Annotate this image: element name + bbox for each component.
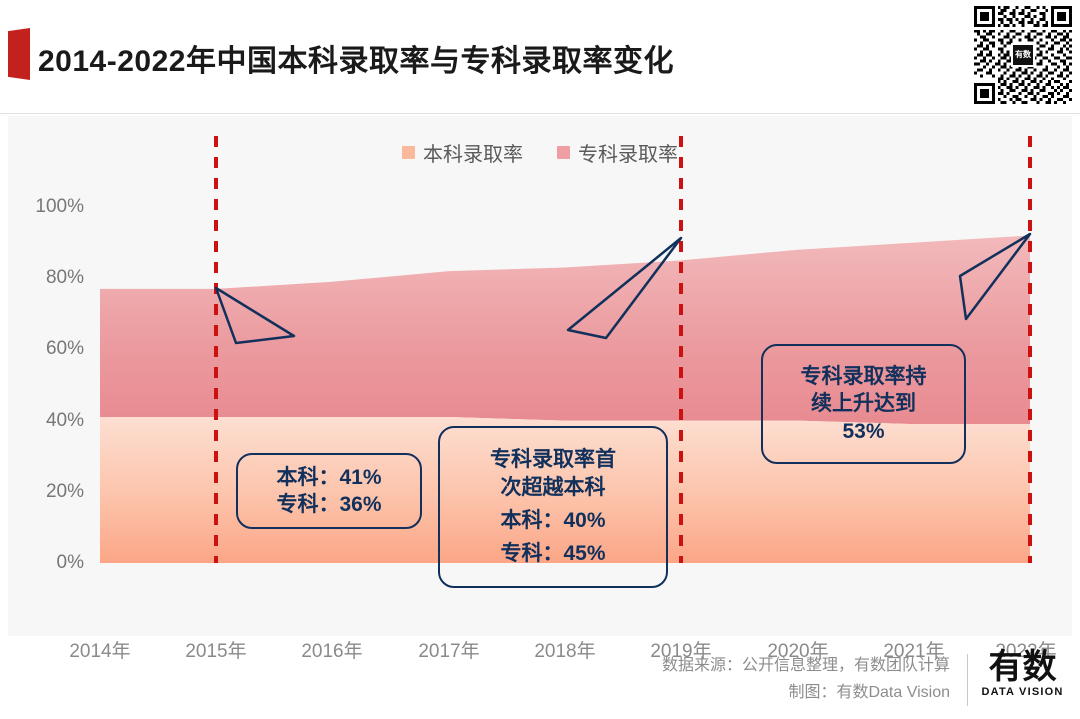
legend-item-zhuanke[interactable]: 专科录取率 xyxy=(557,138,678,167)
callout-2019-line-1: 专科录取率首 xyxy=(490,446,616,473)
legend-swatch-zhuanke xyxy=(557,146,570,159)
legend-label-benke: 本科录取率 xyxy=(423,138,523,167)
qr-center-logo-text: 有数 xyxy=(1015,51,1031,59)
source-line-2: 制图：有数Data Vision xyxy=(662,679,950,706)
brand-logo-en: DATA VISION xyxy=(975,686,1070,698)
chart-legend: 本科录取率 专科录取率 xyxy=(8,138,1072,167)
header-divider xyxy=(0,113,1080,114)
brand-logo-cn: 有数 xyxy=(975,650,1070,686)
chart-panel: 本科录取率 专科录取率 100% 80% 60% 40% 20% 0% 本科：4… xyxy=(8,116,1072,636)
page-title: 2014-2022年中国本科录取率与专科录取率变化 xyxy=(38,36,674,80)
y-tick-40: 40% xyxy=(4,410,84,432)
brand-logo: 有数 DATA VISION xyxy=(975,650,1070,710)
chart-page: 2014-2022年中国本科录取率与专科录取率变化 xyxy=(0,0,1080,719)
legend-item-benke[interactable]: 本科录取率 xyxy=(402,138,523,167)
page-header: 2014-2022年中国本科录取率与专科录取率变化 xyxy=(0,0,1080,114)
callout-2015-line-2: 专科：36% xyxy=(276,491,381,518)
page-footer: 数据来源：公开信息整理，有数团队计算 制图：有数Data Vision 有数 D… xyxy=(0,640,1080,719)
y-tick-0: 0% xyxy=(4,552,84,574)
callout-2022-line-2: 续上升达到 xyxy=(811,390,916,417)
y-tick-80: 80% xyxy=(4,267,84,289)
source-note: 数据来源：公开信息整理，有数团队计算 制图：有数Data Vision xyxy=(662,652,950,706)
callout-2019-line-4: 专科：45% xyxy=(500,540,605,567)
callout-2015[interactable]: 本科：41% 专科：36% xyxy=(236,453,422,529)
y-tick-100: 100% xyxy=(4,196,84,218)
y-tick-20: 20% xyxy=(4,481,84,503)
source-line-1: 数据来源：公开信息整理，有数团队计算 xyxy=(662,652,950,679)
callout-2015-line-1: 本科：41% xyxy=(276,464,381,491)
title-flag-icon xyxy=(8,28,30,80)
callout-2019[interactable]: 专科录取率首 次超越本科 本科：40% 专科：45% xyxy=(438,426,668,588)
callout-2022-line-1: 专科录取率持 xyxy=(801,363,927,390)
callout-2019-line-2: 次超越本科 xyxy=(501,474,606,501)
callout-2022-line-3: 53% xyxy=(842,418,884,445)
qr-center-logo: 有数 xyxy=(1011,43,1035,67)
callout-2019-line-3: 本科：40% xyxy=(500,507,605,534)
footer-divider xyxy=(967,654,968,706)
callout-2022[interactable]: 专科录取率持 续上升达到 53% xyxy=(761,344,966,464)
legend-label-zhuanke: 专科录取率 xyxy=(578,138,678,167)
qr-code[interactable]: 有数 xyxy=(974,6,1072,104)
y-tick-60: 60% xyxy=(4,338,84,360)
legend-swatch-benke xyxy=(402,146,415,159)
